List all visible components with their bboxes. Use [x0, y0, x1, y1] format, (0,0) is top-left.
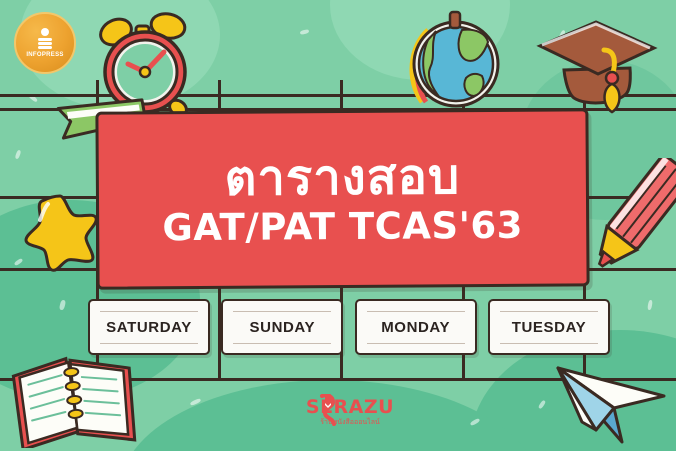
serazu-bookmark-icon [313, 394, 339, 428]
card-rule [367, 343, 465, 344]
serazu-logo[interactable]: SERAZU ร้านหนังสือออนไลน์ [305, 398, 395, 442]
graduation-cap-icon [530, 12, 662, 120]
card-rule [100, 311, 198, 312]
day-card-monday[interactable]: MONDAY [355, 299, 477, 355]
pencil-icon [592, 158, 676, 284]
infopress-logo-icon [36, 28, 54, 50]
grid-line-vertical [218, 80, 221, 108]
day-card-label: SUNDAY [250, 319, 316, 336]
card-rule [500, 343, 598, 344]
card-rule [233, 343, 331, 344]
page-title-thai: ตารางสอบ [224, 152, 460, 203]
day-card-tuesday[interactable]: TUESDAY [488, 299, 610, 355]
infopress-logo-badge[interactable]: INFOPRESS [14, 12, 76, 74]
speckle [300, 29, 310, 35]
page-subtitle: GAT/PAT TCAS'63 [162, 207, 523, 247]
day-card-row: SATURDAY SUNDAY MONDAY TUESDAY [88, 299, 610, 355]
star-icon [18, 190, 102, 274]
globe-icon [400, 6, 512, 118]
card-rule [100, 343, 198, 344]
card-rule [500, 311, 598, 312]
speckle [647, 300, 653, 311]
paper-plane-icon [552, 356, 676, 451]
speckle [15, 150, 22, 160]
day-card-saturday[interactable]: SATURDAY [88, 299, 210, 355]
day-card-label: MONDAY [381, 319, 450, 336]
poster-canvas: ตารางสอบ GAT/PAT TCAS'63 SATURDAY SUNDAY… [0, 0, 676, 451]
card-rule [233, 311, 331, 312]
day-card-label: TUESDAY [512, 319, 587, 336]
card-rule [367, 311, 465, 312]
notebook-icon [4, 348, 144, 448]
grid-line-vertical [340, 80, 343, 108]
main-title-banner: ตารางสอบ GAT/PAT TCAS'63 [95, 108, 589, 289]
infopress-logo-label: INFOPRESS [26, 52, 63, 58]
day-card-label: SATURDAY [106, 319, 192, 336]
day-card-sunday[interactable]: SUNDAY [221, 299, 343, 355]
